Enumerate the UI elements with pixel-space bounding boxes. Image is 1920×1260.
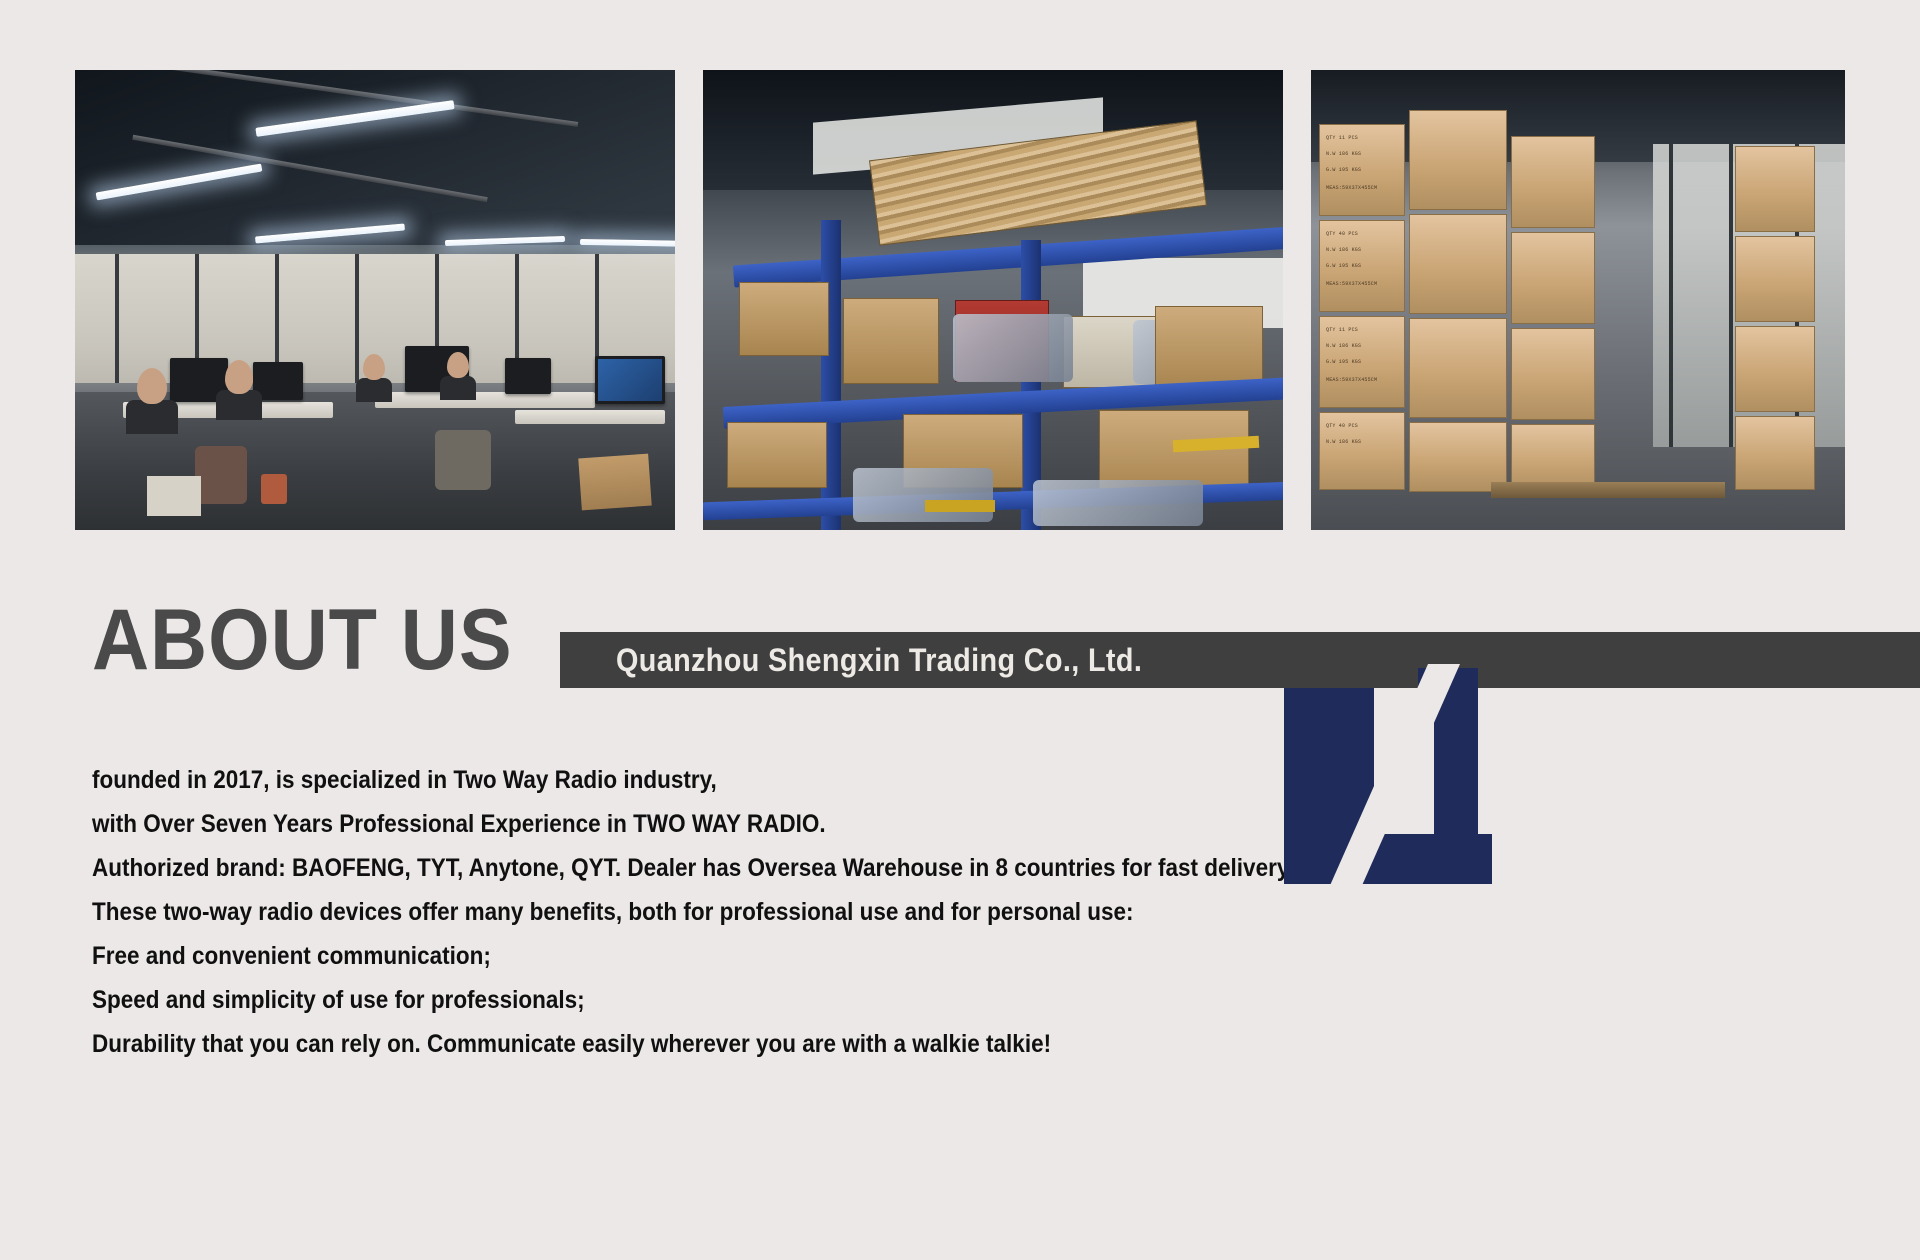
- export-carton: [1735, 146, 1815, 232]
- carton-label-nw: N.W 186 KGS: [1326, 151, 1361, 158]
- export-carton: [1735, 416, 1815, 490]
- window-mullion: [1729, 144, 1733, 448]
- carton-label-nw: N.W 186 KGS: [1326, 343, 1361, 350]
- worker-head: [225, 360, 253, 394]
- seated-worker: [440, 376, 476, 400]
- seated-worker: [126, 400, 178, 434]
- storage-carton: [739, 282, 829, 356]
- export-carton: QTY 40 PCS N.W 186 KGS: [1319, 412, 1405, 490]
- storage-carton: [727, 422, 827, 488]
- computer-monitor: [505, 358, 551, 394]
- worker-head: [447, 352, 469, 378]
- poly-bagged-goods: [1033, 480, 1203, 526]
- about-line: Authorized brand: BAOFENG, TYT, Anytone,…: [92, 846, 1163, 890]
- poly-bagged-goods: [853, 468, 993, 522]
- about-line: These two-way radio devices offer many b…: [92, 890, 1163, 934]
- company-logo: [1278, 662, 1498, 890]
- company-name: Quanzhou Shengxin Trading Co., Ltd.: [616, 642, 1142, 679]
- export-carton: QTY 40 PCS N.W 186 KGS G.W 195 KGS MEAS:…: [1319, 220, 1405, 312]
- export-carton: [1511, 328, 1595, 420]
- carton-label-gw: G.W 195 KGS: [1326, 359, 1361, 366]
- export-carton: [1735, 236, 1815, 322]
- office-desk: [515, 410, 665, 424]
- export-carton: [1409, 110, 1507, 210]
- about-body-copy: founded in 2017, is specialized in Two W…: [92, 758, 1282, 1066]
- carton-label-meas: MEAS:59X37X455CM: [1326, 281, 1377, 288]
- export-carton: QTY 11 PCS N.W 186 KGS G.W 195 KGS MEAS:…: [1319, 316, 1405, 408]
- carton-label-qty: QTY 11 PCS: [1326, 135, 1358, 142]
- storage-carton: [1155, 306, 1263, 390]
- export-carton: [1735, 326, 1815, 412]
- storage-carton: [843, 298, 939, 384]
- waste-bin: [261, 474, 287, 504]
- warehouse-racking-photo: [703, 70, 1283, 530]
- cardboard-box: [578, 454, 651, 511]
- carton-label-qty: QTY 40 PCS: [1326, 231, 1358, 238]
- photo-strip: QTY 11 PCS N.W 186 KGS G.W 195 KGS MEAS:…: [75, 70, 1845, 530]
- logo-corner-tab: [1476, 844, 1492, 868]
- worker-head: [137, 368, 167, 404]
- about-us-page: { "page": { "background_color": "#ECE8E7…: [0, 0, 1920, 1260]
- seated-worker: [216, 390, 262, 420]
- cardboard-box: [147, 476, 201, 516]
- company-name-bar: Quanzhou Shengxin Trading Co., Ltd.: [560, 632, 1920, 688]
- about-line: founded in 2017, is specialized in Two W…: [92, 758, 1163, 802]
- export-carton: [1511, 232, 1595, 324]
- poly-bagged-goods: [953, 314, 1073, 382]
- warehouse-racking-scene: [703, 70, 1283, 530]
- carton-label-gw: G.W 195 KGS: [1326, 263, 1361, 270]
- carton-label-nw: N.W 186 KGS: [1326, 439, 1361, 446]
- export-carton: QTY 11 PCS N.W 186 KGS G.W 195 KGS MEAS:…: [1319, 124, 1405, 216]
- carton-label-meas: MEAS:59X37X455CM: [1326, 185, 1377, 192]
- carton-label-gw: G.W 195 KGS: [1326, 167, 1361, 174]
- partition-mullion: [355, 254, 359, 383]
- carton-label-nw: N.W 186 KGS: [1326, 247, 1361, 254]
- company-logo-icon: [1278, 662, 1498, 890]
- carton-label-meas: MEAS:59X37X455CM: [1326, 377, 1377, 384]
- about-line: Durability that you can rely on. Communi…: [92, 1022, 1163, 1066]
- about-line: Free and convenient communication;: [92, 934, 1163, 978]
- office-desk: [375, 392, 595, 408]
- about-line: Speed and simplicity of use for professi…: [92, 978, 1163, 1022]
- partition-mullion: [115, 254, 119, 383]
- export-carton: [1409, 318, 1507, 418]
- export-carton: [1409, 214, 1507, 314]
- worker-head: [363, 354, 385, 380]
- export-carton: [1511, 136, 1595, 228]
- office-interior-photo: [75, 70, 675, 530]
- office-chair: [435, 430, 491, 490]
- about-line: with Over Seven Years Professional Exper…: [92, 802, 1163, 846]
- page-title: ABOUT US: [92, 597, 513, 683]
- yellow-packing-tape: [925, 500, 995, 512]
- office-interior-scene: [75, 70, 675, 530]
- window-mullion: [1669, 144, 1673, 448]
- seated-worker: [356, 378, 392, 402]
- wooden-pallet: [1491, 482, 1725, 498]
- office-chair: [195, 446, 247, 504]
- computer-monitor: [595, 356, 665, 404]
- carton-pallets-photo: QTY 11 PCS N.W 186 KGS G.W 195 KGS MEAS:…: [1311, 70, 1845, 530]
- carton-label-qty: QTY 40 PCS: [1326, 423, 1358, 430]
- carton-pallets-scene: QTY 11 PCS N.W 186 KGS G.W 195 KGS MEAS:…: [1311, 70, 1845, 530]
- carton-label-qty: QTY 11 PCS: [1326, 327, 1358, 334]
